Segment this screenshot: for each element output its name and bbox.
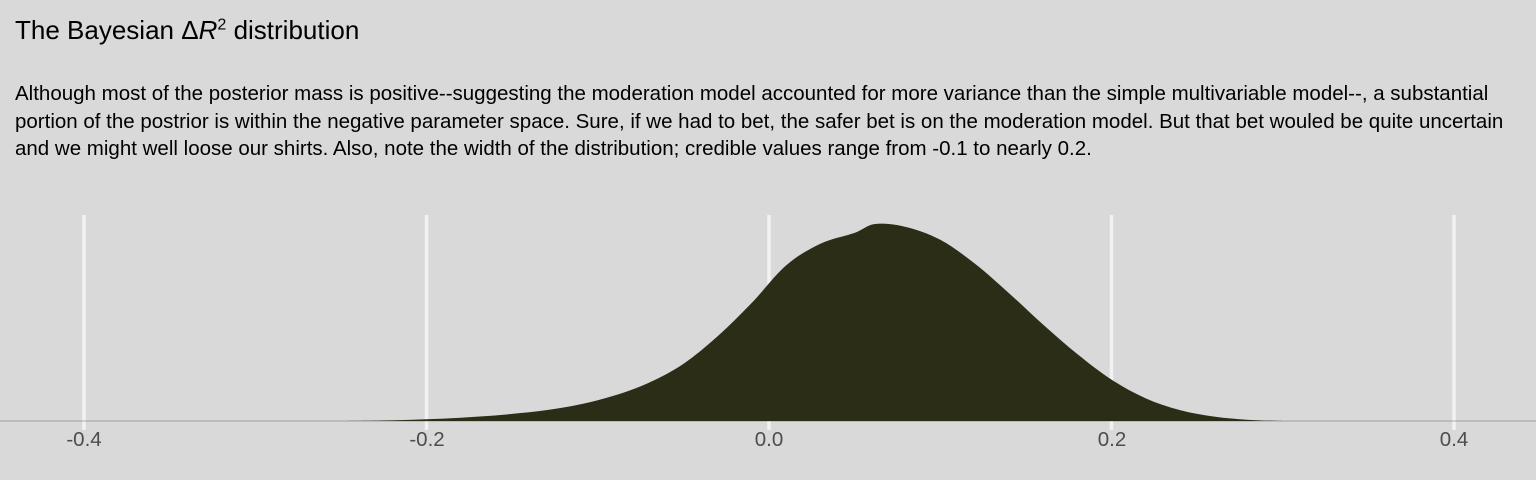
delta-symbol: Δ <box>181 15 198 45</box>
density-plot-svg <box>0 215 1536 430</box>
xtick-label--0.2: -0.2 <box>409 428 444 452</box>
ggplot-figure: The Bayesian ΔR2 distribution Although m… <box>0 0 1536 480</box>
xtick-label-0.0: 0.0 <box>755 428 784 452</box>
title-superscript: 2 <box>217 15 226 33</box>
page-title: The Bayesian ΔR2 distribution <box>15 13 359 47</box>
xtick-label--0.4: -0.4 <box>66 428 101 452</box>
posterior-density-area <box>341 224 1283 421</box>
title-suffix: distribution <box>226 15 359 45</box>
title-variable: R <box>199 15 218 45</box>
x-axis-tick-labels: -0.4 -0.2 0.0 0.2 0.4 <box>0 428 1536 468</box>
plot-subtitle: Although most of the posterior mass is p… <box>15 80 1525 163</box>
title-prefix: The Bayesian <box>15 15 181 45</box>
xtick-label-0.4: 0.4 <box>1440 428 1469 452</box>
xtick-label-0.2: 0.2 <box>1098 428 1127 452</box>
plot-panel <box>0 215 1536 425</box>
